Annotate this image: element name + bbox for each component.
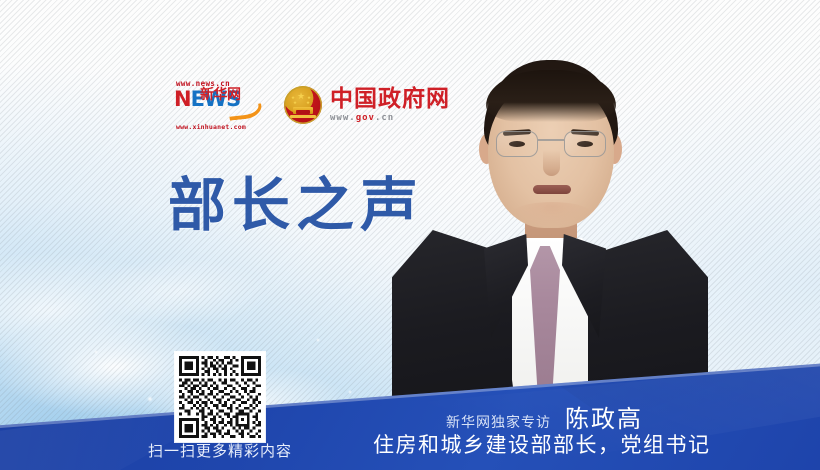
xinhua-url-bottom: www.xinhuanet.com (176, 123, 246, 131)
emblem-star-small-3: ★ (293, 102, 297, 107)
emblem-tiananmen-gate (293, 107, 313, 114)
minister-voice-banner: www.news.cn NEWS 新华网 www.xinhuanet.com ★… (0, 0, 820, 470)
qr-code[interactable] (175, 352, 265, 442)
glasses-lens-right (564, 131, 606, 157)
gov-url-suffix: .cn (375, 113, 394, 123)
gov-url-prefix: www. (330, 113, 356, 123)
xinhua-wordmark-cn: 新华网 (200, 88, 241, 103)
caption-person-title: 住房和城乡建设部部长，党组书记 (373, 429, 711, 459)
qr-code-image (179, 356, 261, 438)
qr-code-caption: 扫一扫更多精彩内容 (140, 440, 300, 461)
emblem-star-small-4: ★ (306, 102, 310, 107)
xinhua-wordmark-initial: N (174, 87, 191, 111)
glasses-bridge (538, 139, 564, 141)
glasses-lens-left (496, 131, 538, 157)
emblem-base (290, 115, 316, 118)
portrait-nose (543, 150, 560, 176)
national-emblem-icon: ★ ★ ★ ★ ★ (284, 86, 322, 124)
xinhua-swoosh-icon (228, 103, 262, 120)
xinhua-logo[interactable]: www.news.cn NEWS 新华网 www.xinhuanet.com (174, 79, 262, 131)
portrait-mouth (533, 185, 571, 194)
portrait-chin (512, 202, 592, 226)
emblem-star-large: ★ (297, 93, 305, 102)
page-title: 部长之声 (168, 176, 424, 234)
gov-url-domain: gov (356, 113, 375, 123)
